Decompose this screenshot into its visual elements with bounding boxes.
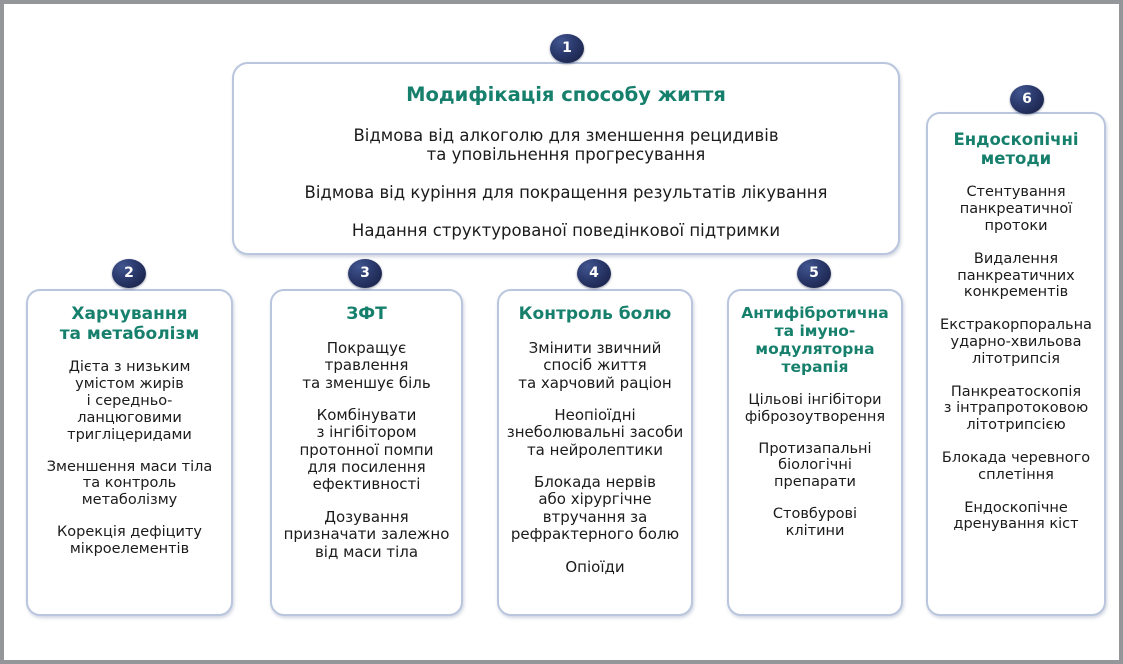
card-content: ЗФТ Покращує травлення та зменшує біль К… [272, 305, 461, 561]
card-content: Антифібротична та імуно- модуляторна тер… [729, 305, 901, 540]
card-title: ЗФТ [278, 305, 455, 325]
card-item: Екстракорпоральна ударно-хвильова літотр… [934, 317, 1098, 367]
card-item: Опіоїди [505, 559, 685, 576]
badge-number-3: 3 [348, 259, 382, 288]
card-title: Контроль болю [505, 305, 685, 325]
badge-number-2: 2 [112, 259, 146, 288]
card-content: Ендоскопічні методи Стентування панкреат… [928, 130, 1104, 533]
card-content: Модифікація способу життя Відмова від ал… [234, 84, 898, 240]
card-item: Протизапальні біологічні препарати [735, 441, 895, 491]
card-enzyme-replacement-therapy: ЗФТ Покращує травлення та зменшує біль К… [270, 289, 463, 616]
card-content: Харчування та метаболізм Дієта з низьким… [28, 305, 231, 558]
card-pain-control: Контроль болю Змінити звичний спосіб жит… [497, 289, 693, 616]
badge-number-6: 6 [1010, 85, 1044, 114]
card-title: Модифікація способу життя [240, 84, 892, 107]
badge-number-5: 5 [797, 259, 831, 288]
card-item: Зменшення маси тіла та контроль метаболі… [34, 459, 225, 509]
card-item: Блокада нервів або хірургічне втручання … [505, 474, 685, 544]
card-item: Надання структурованої поведінкової підт… [240, 221, 892, 240]
badge-number-4: 4 [577, 259, 611, 288]
card-item: Стентування панкреатичної протоки [934, 184, 1098, 234]
card-title: Ендоскопічні методи [934, 130, 1098, 168]
card-item: Корекція дефіциту мікроелементів [34, 524, 225, 558]
card-lifestyle-modification: Модифікація способу життя Відмова від ал… [232, 62, 900, 255]
card-item: Дієта з низьким умістом жирів і середньо… [34, 359, 225, 443]
badge-number-1: 1 [550, 34, 584, 63]
card-item: Змінити звичний спосіб життя та харчовий… [505, 340, 685, 392]
card-title: Антифібротична та імуно- модуляторна тер… [735, 305, 895, 377]
card-nutrition-metabolism: Харчування та метаболізм Дієта з низьким… [26, 289, 233, 616]
card-item: Покращує травлення та зменшує біль [278, 340, 455, 392]
card-item: Відмова від куріння для покращення резул… [240, 183, 892, 202]
card-item: Стовбурові клітини [735, 506, 895, 540]
card-item: Цільові інгібітори фіброзоутворення [735, 392, 895, 426]
card-antifibrotic-immunomodulatory-therapy: Антифібротична та імуно- модуляторна тер… [727, 289, 903, 616]
card-endoscopic-methods: Ендоскопічні методи Стентування панкреат… [926, 112, 1106, 616]
card-item: Блокада черевного сплетіння [934, 450, 1098, 484]
card-item: Панкреатоскопія з інтрапротоковою літотр… [934, 384, 1098, 434]
card-item: Ендоскопічне дренування кіст [934, 500, 1098, 534]
card-item: Видалення панкреатичних конкрементів [934, 251, 1098, 301]
card-content: Контроль болю Змінити звичний спосіб жит… [499, 305, 691, 576]
card-item: Комбінувати з інгібітором протонної помп… [278, 407, 455, 494]
card-item: Відмова від алкоголю для зменшення рецид… [240, 126, 892, 164]
card-title: Харчування та метаболізм [34, 305, 225, 344]
card-item: Дозування призначати залежно від маси ті… [278, 509, 455, 561]
diagram-canvas: Модифікація способу життя Відмова від ал… [0, 0, 1123, 664]
card-item: Неопіоїдні знеболювальні засоби та нейро… [505, 407, 685, 459]
